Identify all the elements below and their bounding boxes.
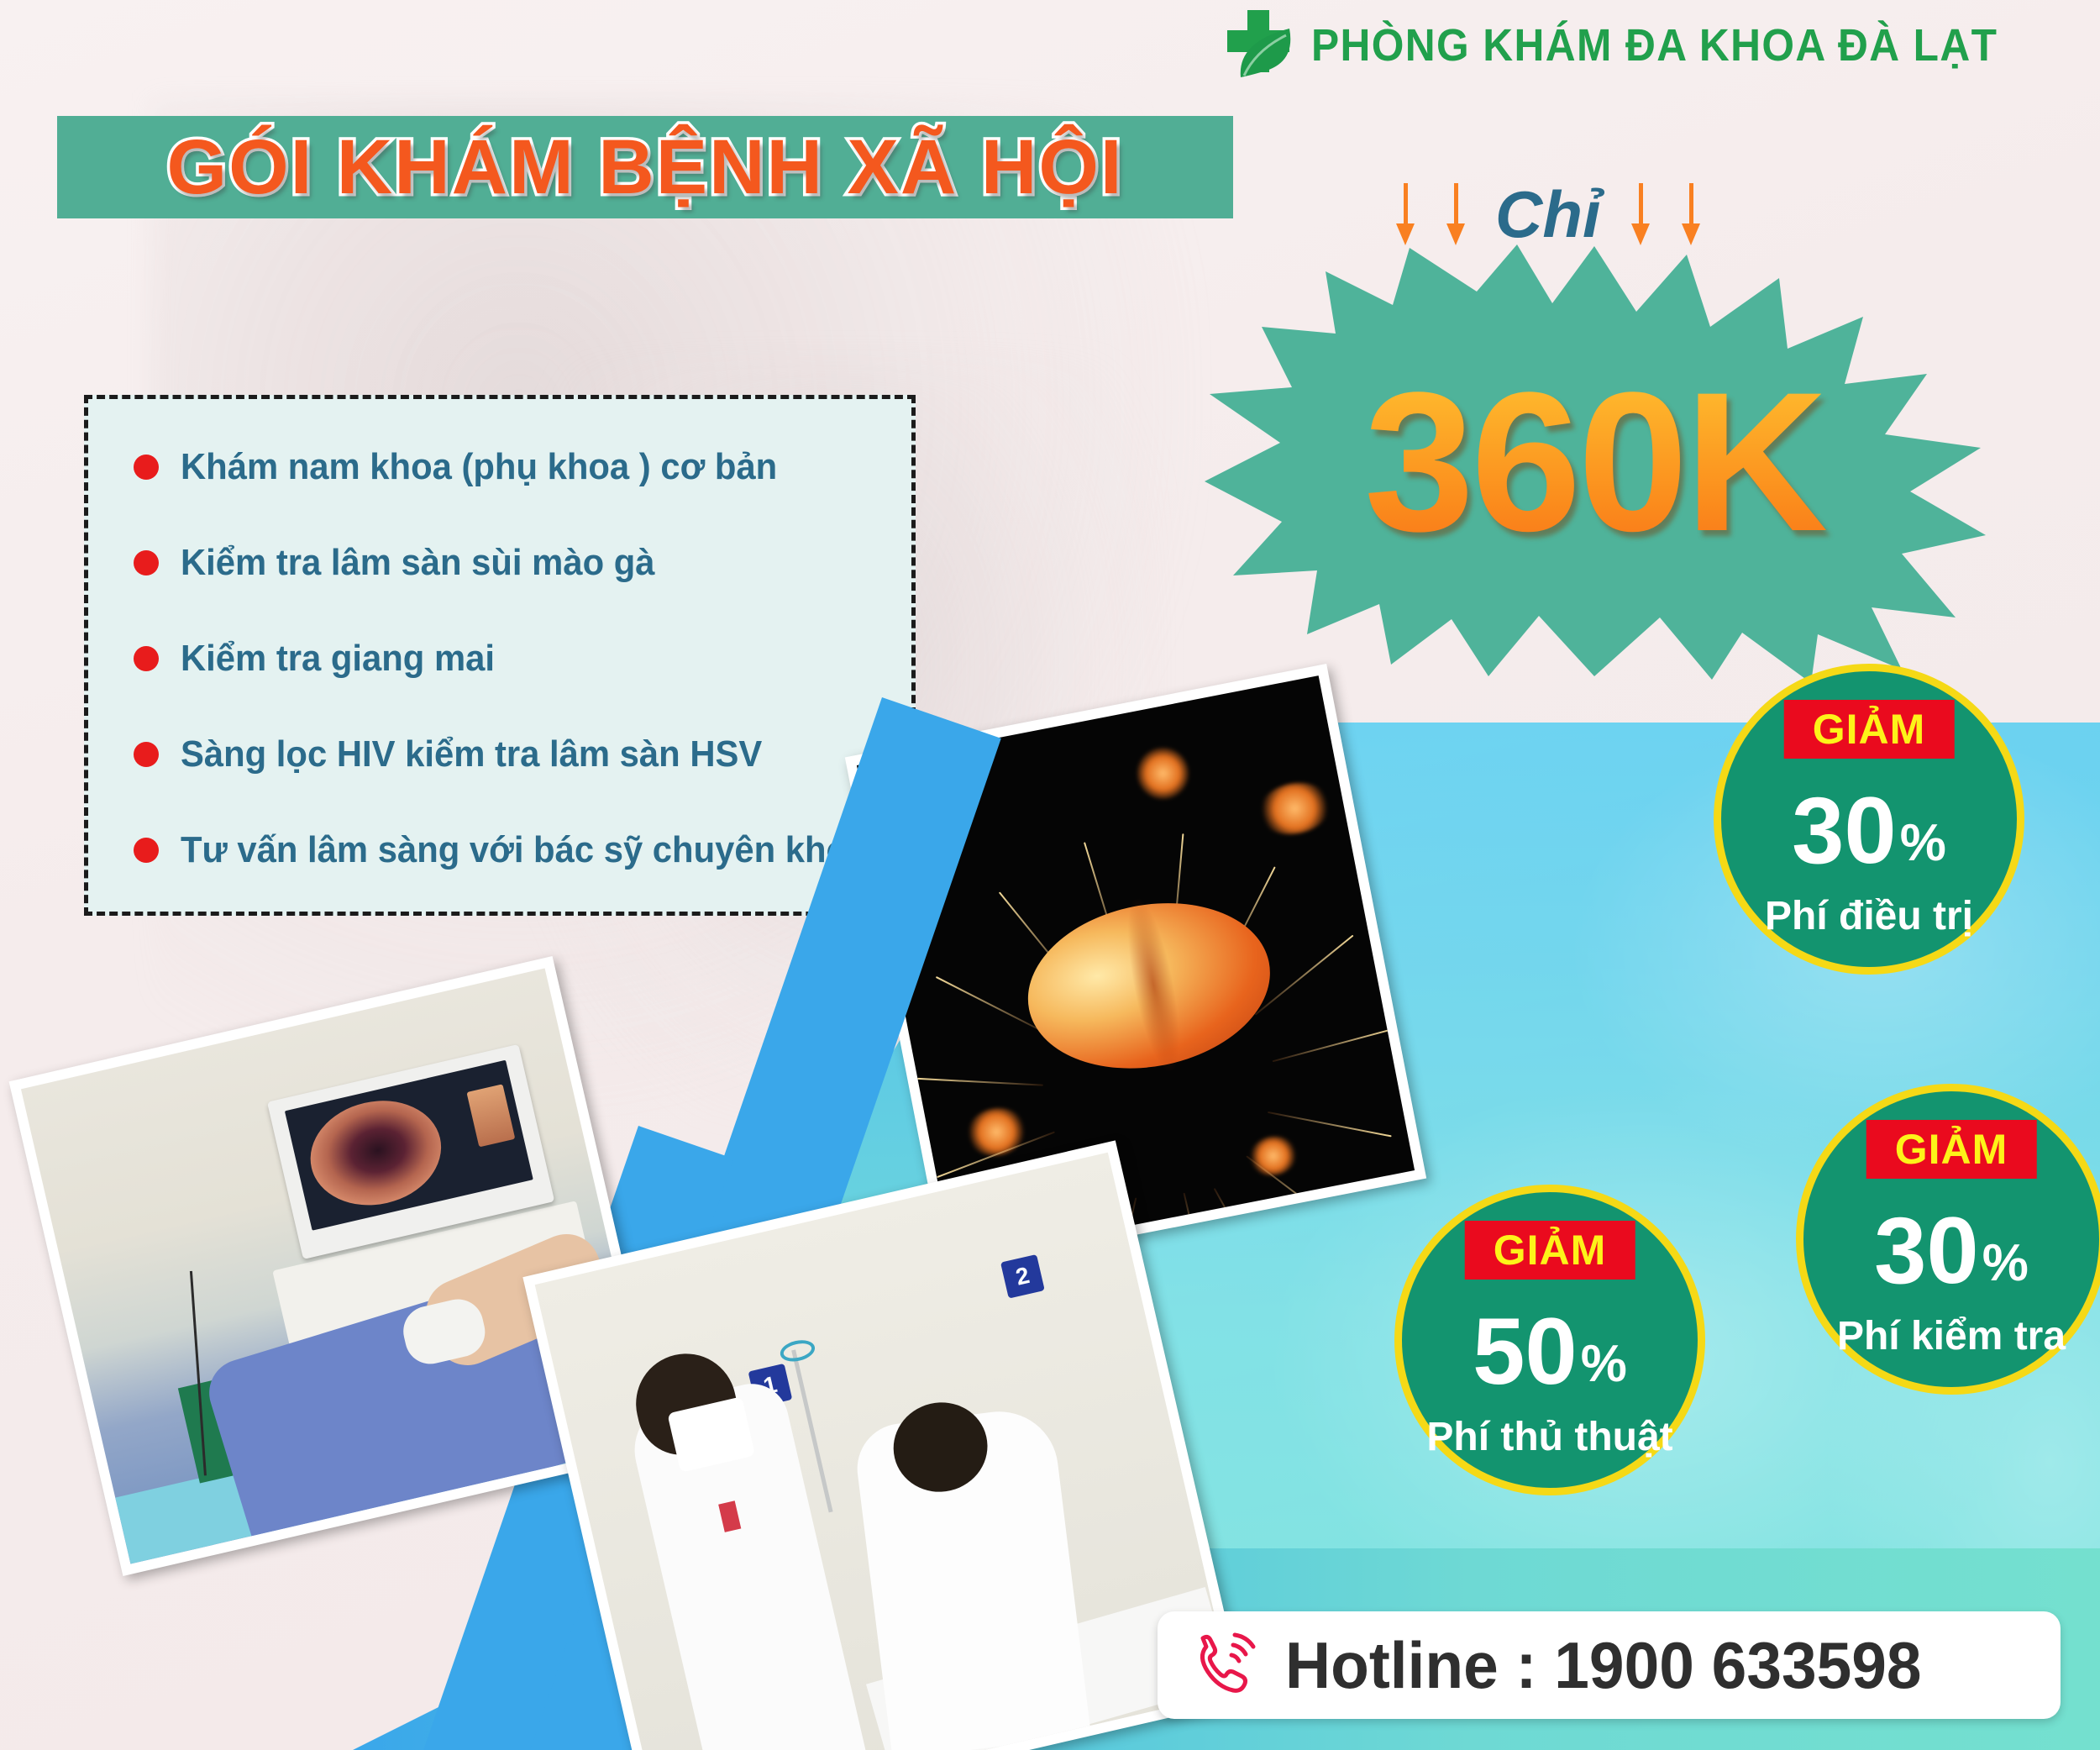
service-label: Khám nam khoa (phụ khoa ) cơ bản	[181, 446, 777, 488]
bacterium-cell	[1013, 883, 1284, 1088]
price-amount: 360K	[1200, 239, 1989, 685]
bullet-dot-icon	[134, 550, 159, 575]
list-item: Kiểm tra giang mai	[134, 638, 911, 680]
service-label: Kiểm tra lâm sàn sùi mào gà	[181, 542, 655, 584]
discount-percent: 30%	[1874, 1204, 2029, 1298]
discount-tag: GIẢM	[1465, 1221, 1635, 1280]
price-starburst: 360K	[1200, 239, 1989, 685]
discount-caption: Phí thủ thuật	[1426, 1414, 1672, 1460]
down-arrow-icon	[1630, 183, 1651, 247]
discount-badge-procedure: GIẢM 50% Phí thủ thuật	[1394, 1185, 1705, 1495]
discount-caption: Phí điều trị	[1765, 893, 1973, 939]
list-item: Tư vấn lâm sàng với bác sỹ chuyên khoa	[134, 829, 911, 871]
title-banner: GÓI KHÁM BỆNH XÃ HỘI	[57, 116, 1233, 218]
brand-logo: PHÒNG KHÁM ĐA KHOA ĐÀ LẠT	[1222, 7, 2057, 84]
discount-tag: GIẢM	[1866, 1120, 2037, 1179]
hotline-bar[interactable]: Hotline : 1900 633598	[1158, 1611, 2061, 1719]
list-item: Sàng lọc HIV kiểm tra lâm sàn HSV	[134, 733, 911, 775]
down-arrow-icon	[1680, 183, 1702, 247]
bullet-dot-icon	[134, 646, 159, 671]
discount-percent: 30%	[1792, 784, 1946, 878]
list-item: Kiểm tra lâm sàn sùi mào gà	[134, 542, 911, 584]
service-label: Tư vấn lâm sàng với bác sỹ chuyên khoa	[181, 829, 867, 871]
discount-percent: 50%	[1473, 1305, 1627, 1399]
discount-badge-treatment: GIẢM 30% Phí điều trị	[1714, 664, 2024, 975]
down-arrow-icon	[1445, 183, 1467, 247]
bullet-dot-icon	[134, 455, 159, 480]
list-item: Khám nam khoa (phụ khoa ) cơ bản	[134, 446, 911, 488]
promo-banner: PHÒNG KHÁM ĐA KHOA ĐÀ LẠT GÓI KHÁM BỆNH …	[0, 0, 2100, 1750]
brand-name: PHÒNG KHÁM ĐA KHOA ĐÀ LẠT	[1311, 19, 1998, 71]
service-label: Sàng lọc HIV kiểm tra lâm sàn HSV	[181, 733, 762, 775]
bullet-dot-icon	[134, 742, 159, 767]
bullet-dot-icon	[134, 838, 159, 863]
service-label: Kiểm tra giang mai	[181, 638, 495, 680]
hotline-label: Hotline : 1900 633598	[1285, 1627, 1922, 1704]
services-card: Khám nam khoa (phụ khoa ) cơ bản Kiểm tr…	[84, 395, 916, 916]
page-title: GÓI KHÁM BỆNH XÃ HỘI	[167, 123, 1124, 212]
discount-badge-checkup: GIẢM 30% Phí kiểm tra	[1796, 1084, 2100, 1395]
discount-caption: Phí kiểm tra	[1837, 1313, 2066, 1359]
medical-cross-leaf-icon	[1222, 7, 1296, 84]
phone-ringing-icon	[1193, 1630, 1263, 1700]
discount-tag: GIẢM	[1784, 700, 1955, 759]
down-arrow-icon	[1394, 183, 1416, 247]
